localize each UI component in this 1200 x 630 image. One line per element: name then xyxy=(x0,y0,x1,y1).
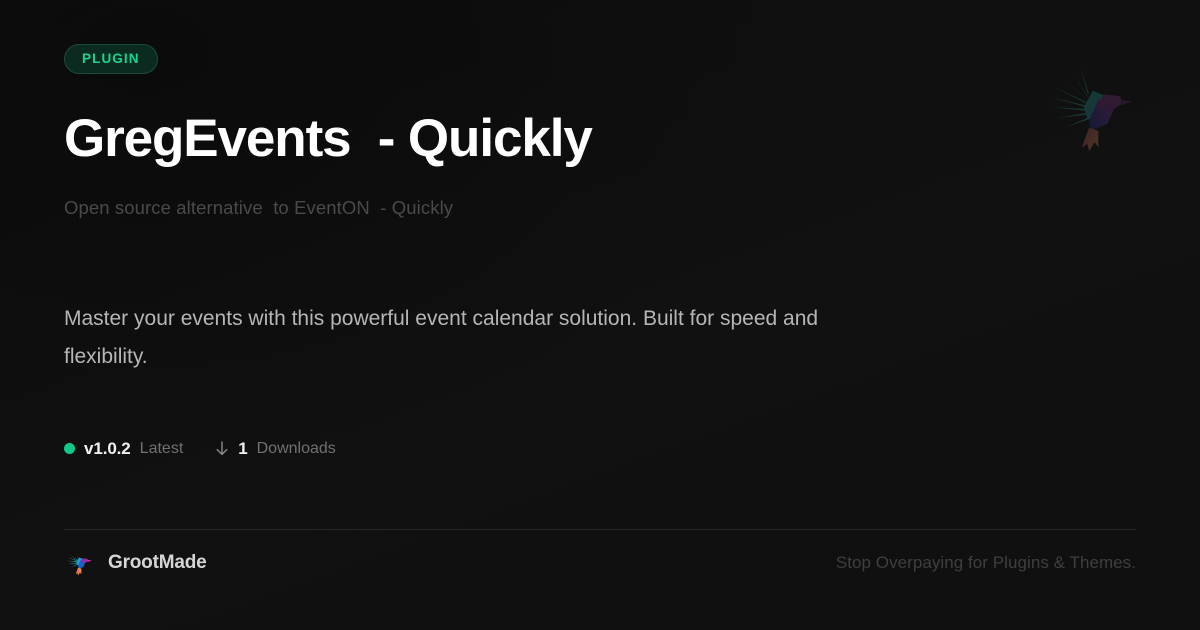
hummingbird-logo-icon xyxy=(64,548,94,578)
version-label: Latest xyxy=(140,441,184,457)
green-status-dot-icon xyxy=(64,443,75,454)
page-title: GregEvents - Quickly xyxy=(64,110,1136,167)
brand: GrootMade xyxy=(64,548,206,578)
downloads-count: 1 xyxy=(238,440,247,457)
plugin-description: Master your events with this powerful ev… xyxy=(64,300,879,375)
version-meta: v1.0.2 Latest xyxy=(64,440,183,457)
page-subtitle: Open source alternative to EventON - Qui… xyxy=(64,197,1136,219)
footer-tagline: Stop Overpaying for Plugins & Themes. xyxy=(836,553,1136,573)
footer: GrootMade Stop Overpaying for Plugins & … xyxy=(64,545,1136,581)
brand-name: GrootMade xyxy=(108,552,206,574)
meta-row: v1.0.2 Latest 1 Downloads xyxy=(64,438,1136,460)
download-arrow-icon xyxy=(215,441,229,457)
downloads-label: Downloads xyxy=(257,441,336,457)
header-row: PLUGIN xyxy=(64,44,1136,74)
plugin-hero-card: PLUGIN xyxy=(0,0,1200,630)
downloads-meta: 1 Downloads xyxy=(215,440,336,457)
version-value: v1.0.2 xyxy=(84,440,131,457)
footer-divider xyxy=(64,529,1136,530)
plugin-type-badge: PLUGIN xyxy=(64,44,158,74)
